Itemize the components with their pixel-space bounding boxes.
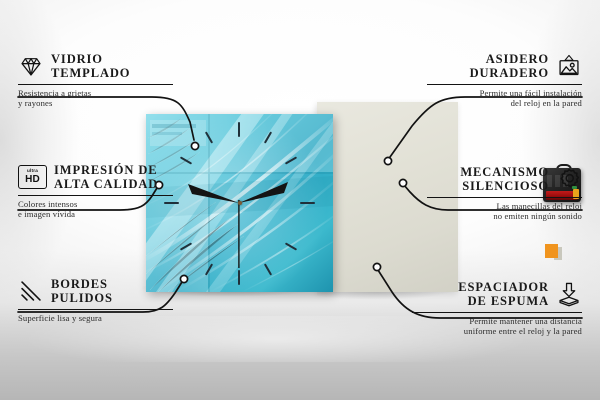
feature-description: Permite una fácil instalación del reloj … bbox=[427, 88, 582, 109]
feature-description: Superficie lisa y segura bbox=[18, 313, 173, 323]
infographic-canvas: VIDRIO TEMPLADO Resistencia a grietas y … bbox=[0, 0, 600, 400]
feature-title: BORDES PULIDOS bbox=[51, 277, 113, 305]
feature-header: MECANISMO SILENCIOSO bbox=[427, 165, 582, 193]
feature-underline bbox=[18, 195, 173, 196]
feature-description: Las manecillas del reloj no emiten ningú… bbox=[427, 201, 582, 222]
feature-underline bbox=[427, 197, 582, 198]
feature-espaciador-de-espuma: ESPACIADOR DE ESPUMA Permite mantener un… bbox=[412, 280, 582, 337]
feature-description: Resistencia a grietas y rayones bbox=[18, 88, 173, 109]
clock-hands-pivot bbox=[238, 201, 242, 205]
feature-header: BORDES PULIDOS bbox=[18, 277, 173, 305]
feature-title: ESPACIADOR DE ESPUMA bbox=[458, 280, 549, 308]
feature-header: ESPACIADOR DE ESPUMA bbox=[412, 280, 582, 308]
feature-underline bbox=[18, 309, 173, 310]
foam-spacer-orange bbox=[545, 244, 558, 258]
feature-header: ASIDERO DURADERO bbox=[427, 52, 582, 80]
feature-title: ASIDERO DURADERO bbox=[470, 52, 549, 80]
feature-mecanismo-silencioso: MECANISMO SILENCIOSO Las manecillas del … bbox=[427, 165, 582, 222]
gear-icon bbox=[556, 166, 582, 192]
feature-impresion-alta-calidad: ultra HD IMPRESIÓN DE ALTA CALIDAD Color… bbox=[18, 163, 173, 220]
feature-underline bbox=[18, 84, 173, 85]
feature-description: Permite mantener una distancia uniforme … bbox=[412, 316, 582, 337]
foam-spacer-sample bbox=[545, 244, 562, 260]
feature-title: MECANISMO SILENCIOSO bbox=[460, 165, 549, 193]
feature-header: ultra HD IMPRESIÓN DE ALTA CALIDAD bbox=[18, 163, 173, 191]
feature-header: VIDRIO TEMPLADO bbox=[18, 52, 173, 80]
feature-description: Colores intensos e imagen vívida bbox=[18, 199, 173, 220]
product-photo bbox=[133, 100, 458, 300]
feature-vidrio-templado: VIDRIO TEMPLADO Resistencia a grietas y … bbox=[18, 52, 173, 109]
foam-spacer-icon bbox=[556, 281, 582, 307]
picture-frame-hanger-icon bbox=[556, 53, 582, 79]
feature-bordes-pulidos: BORDES PULIDOS Superficie lisa y segura bbox=[18, 277, 173, 323]
feature-title: IMPRESIÓN DE ALTA CALIDAD bbox=[54, 163, 158, 191]
glass-wall-clock bbox=[146, 114, 333, 292]
ultra-hd-icon: ultra HD bbox=[18, 165, 47, 189]
ultra-hd-icon-big-text: HD bbox=[25, 175, 40, 185]
diamond-icon bbox=[18, 53, 44, 79]
feature-underline bbox=[412, 312, 582, 313]
feature-title: VIDRIO TEMPLADO bbox=[51, 52, 130, 80]
feature-underline bbox=[427, 84, 582, 85]
polished-edge-icon bbox=[18, 278, 44, 304]
feature-asidero-duradero: ASIDERO DURADERO Permite una fácil insta… bbox=[427, 52, 582, 109]
